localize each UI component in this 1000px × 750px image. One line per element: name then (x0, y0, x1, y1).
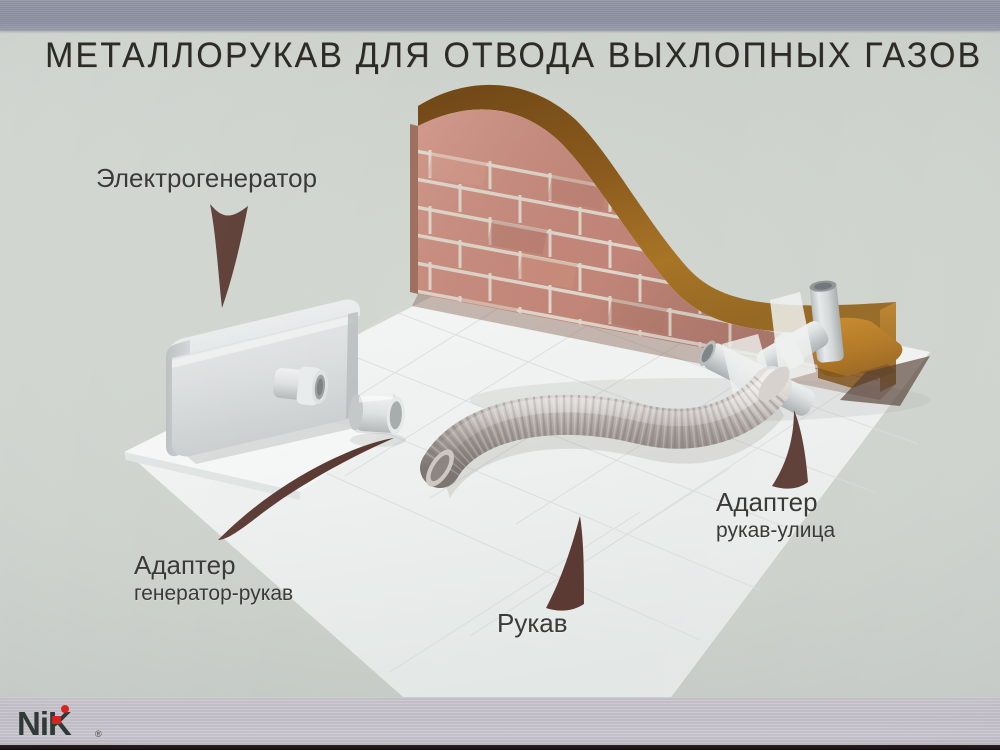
label-adapter-generator-line1: Адаптер (134, 550, 293, 580)
page-title: МЕТАЛЛОРУКАВ ДЛЯ ОТВОДА ВЫХЛОПНЫХ ГАЗОВ (45, 36, 947, 76)
pointer-adapter-street (752, 406, 842, 498)
label-hose-line1: Рукав (497, 608, 568, 638)
label-adapter-generator-line2: генератор-рукав (134, 580, 293, 607)
label-adapter-hose-street: Адаптер рукав-улица (716, 487, 835, 544)
pointer-generator (186, 196, 276, 316)
label-generator-line1: Электрогенератор (96, 163, 317, 193)
label-hose: Рукав (497, 608, 568, 638)
top-projector-band (0, 0, 1000, 31)
bottom-projector-band (0, 697, 1000, 745)
label-adapter-street-line1: Адаптер (716, 487, 835, 517)
label-adapter-generator-hose: Адаптер генератор-рукав (134, 550, 293, 607)
brand-logo-registered-mark: ® (95, 729, 102, 739)
pointer-adapter-generator (198, 432, 408, 542)
brand-logo-square-accent (52, 716, 61, 724)
presentation-slide: МЕТАЛЛОРУКАВ ДЛЯ ОТВОДА ВЫХЛОПНЫХ ГАЗОВ … (0, 0, 1000, 750)
label-adapter-street-line2: рукав-улица (716, 517, 835, 544)
adapter-sleeve (348, 390, 407, 436)
brand-logo: NiK ® (17, 703, 109, 743)
bottom-edge-line (0, 745, 1000, 750)
label-generator: Электрогенератор (96, 163, 317, 193)
